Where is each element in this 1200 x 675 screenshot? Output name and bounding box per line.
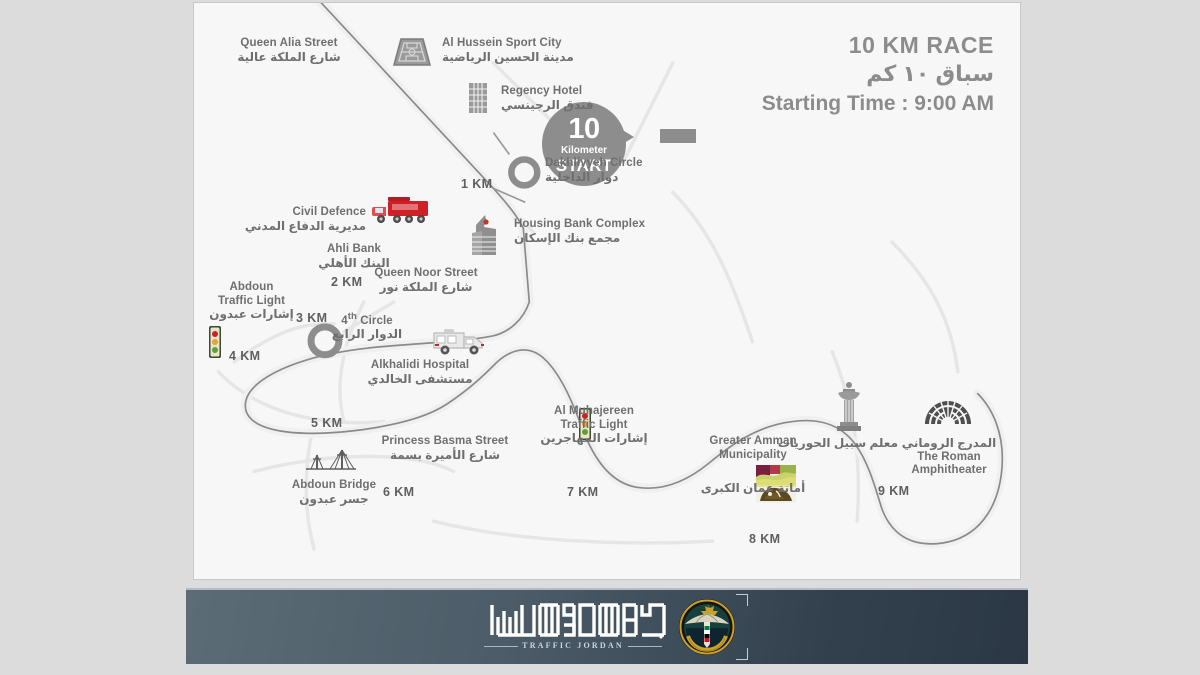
gam-line2: Municipality (719, 449, 787, 461)
km-marker-5: 5 KM (311, 416, 342, 430)
km-marker-6: 6 KM (383, 485, 414, 499)
start-distance-number: 10 (568, 115, 599, 144)
fourth-circle-en: 4th Circle (341, 315, 393, 327)
police-emblem-icon (678, 598, 736, 656)
emblem-corner-top-right (736, 594, 748, 606)
muhajereen-line2: Traffic Light (560, 419, 627, 431)
hotel-icon (466, 81, 490, 115)
footer-logo-group: TRAFFIC JORDAN (186, 590, 1028, 664)
start-line-block (660, 129, 696, 143)
km-marker-7: 7 KM (567, 485, 598, 499)
ambulance-icon (432, 325, 488, 357)
race-title-ar: سباق ١٠ كم (762, 59, 994, 89)
bank-tower-icon (466, 213, 504, 257)
traffic-jordan-logo: TRAFFIC JORDAN (478, 597, 668, 657)
emblem-corner-bottom-right (736, 648, 748, 660)
abdoun-traffic-light-line2: Traffic Light (218, 295, 285, 307)
place-label-roman-amphitheater: المدرج الروماني The Roman Amphitheater (888, 437, 1010, 478)
fire-truck-icon (371, 195, 433, 225)
place-label-queen-noor-street: Queen Noor Street شارع الملكة نور (341, 267, 511, 294)
place-label-queen-alia-street: Queen Alia Street شارع الملكة عالية (194, 37, 384, 64)
amphitheater-line2: Amphitheater (911, 464, 986, 476)
start-distance-unit: Kilometer (561, 146, 607, 156)
kufic-wordmark-icon (478, 601, 668, 639)
traffic-light-icon (207, 325, 223, 359)
km-marker-3: 3 KM (296, 311, 327, 325)
place-label-al-hussein-sport-city: Al Hussein Sport City مدينة الحسين الريا… (442, 37, 574, 64)
place-label-al-muhajereen-traffic-light: Al Muhajereen Traffic Light إشارات المها… (524, 405, 664, 446)
place-label-dakhliyyeh-circle: Dakhliyyeh Circle دوار الداخلية (545, 157, 643, 184)
race-title-en: 10 KM RACE (762, 31, 994, 59)
km-marker-9: 9 KM (878, 484, 909, 498)
km-marker-8: 8 KM (749, 532, 780, 546)
race-start-time: Starting Time : 9:00 AM (762, 89, 994, 119)
km-marker-1: 1 KM (461, 177, 492, 191)
km-marker-4: 4 KM (229, 349, 260, 363)
km-marker-2: 2 KM (331, 275, 362, 289)
column-icon (831, 381, 867, 433)
place-label-regency-hotel: Regency Hotel فندق الرجينسي (501, 85, 594, 112)
traffic-jordan-subtitle: TRAFFIC JORDAN (478, 641, 668, 650)
muhajereen-line1: Al Muhajereen (554, 405, 634, 417)
screenshot-root: 10 KM RACE سباق ١٠ كم Starting Time : 9:… (0, 0, 1200, 675)
amphitheater-line1: The Roman (917, 451, 981, 463)
footer-bar: TRAFFIC JORDAN (186, 588, 1028, 664)
amphitheater-icon (922, 391, 974, 425)
place-label-ahli-bank: Ahli Bank البنك الأهلي (289, 243, 419, 270)
dakhliyyeh-roundabout-shape (511, 159, 537, 185)
place-label-alkhalidi-hospital: Alkhalidi Hospital مستشفى الخالدي (350, 359, 490, 386)
place-label-civil-defence: Civil Defence مديرية الدفاع المدني (194, 206, 366, 233)
race-header: 10 KM RACE سباق ١٠ كم Starting Time : 9:… (762, 31, 994, 119)
place-label-sabeel-al-hourriyat: معلم سبيل الحوريات (802, 437, 898, 451)
place-label-housing-bank-complex: Housing Bank Complex مجمع بنك الإسكان (514, 218, 645, 245)
place-label-princess-basma-street: Princess Basma Street شارع الأميرة بسمة (350, 435, 540, 462)
abdoun-traffic-light-line1: Abdoun (229, 281, 273, 293)
stadium-icon (390, 31, 434, 71)
police-emblem-wrap (678, 598, 736, 656)
race-route-map-panel: 10 KM RACE سباق ١٠ كم Starting Time : 9:… (193, 2, 1021, 580)
